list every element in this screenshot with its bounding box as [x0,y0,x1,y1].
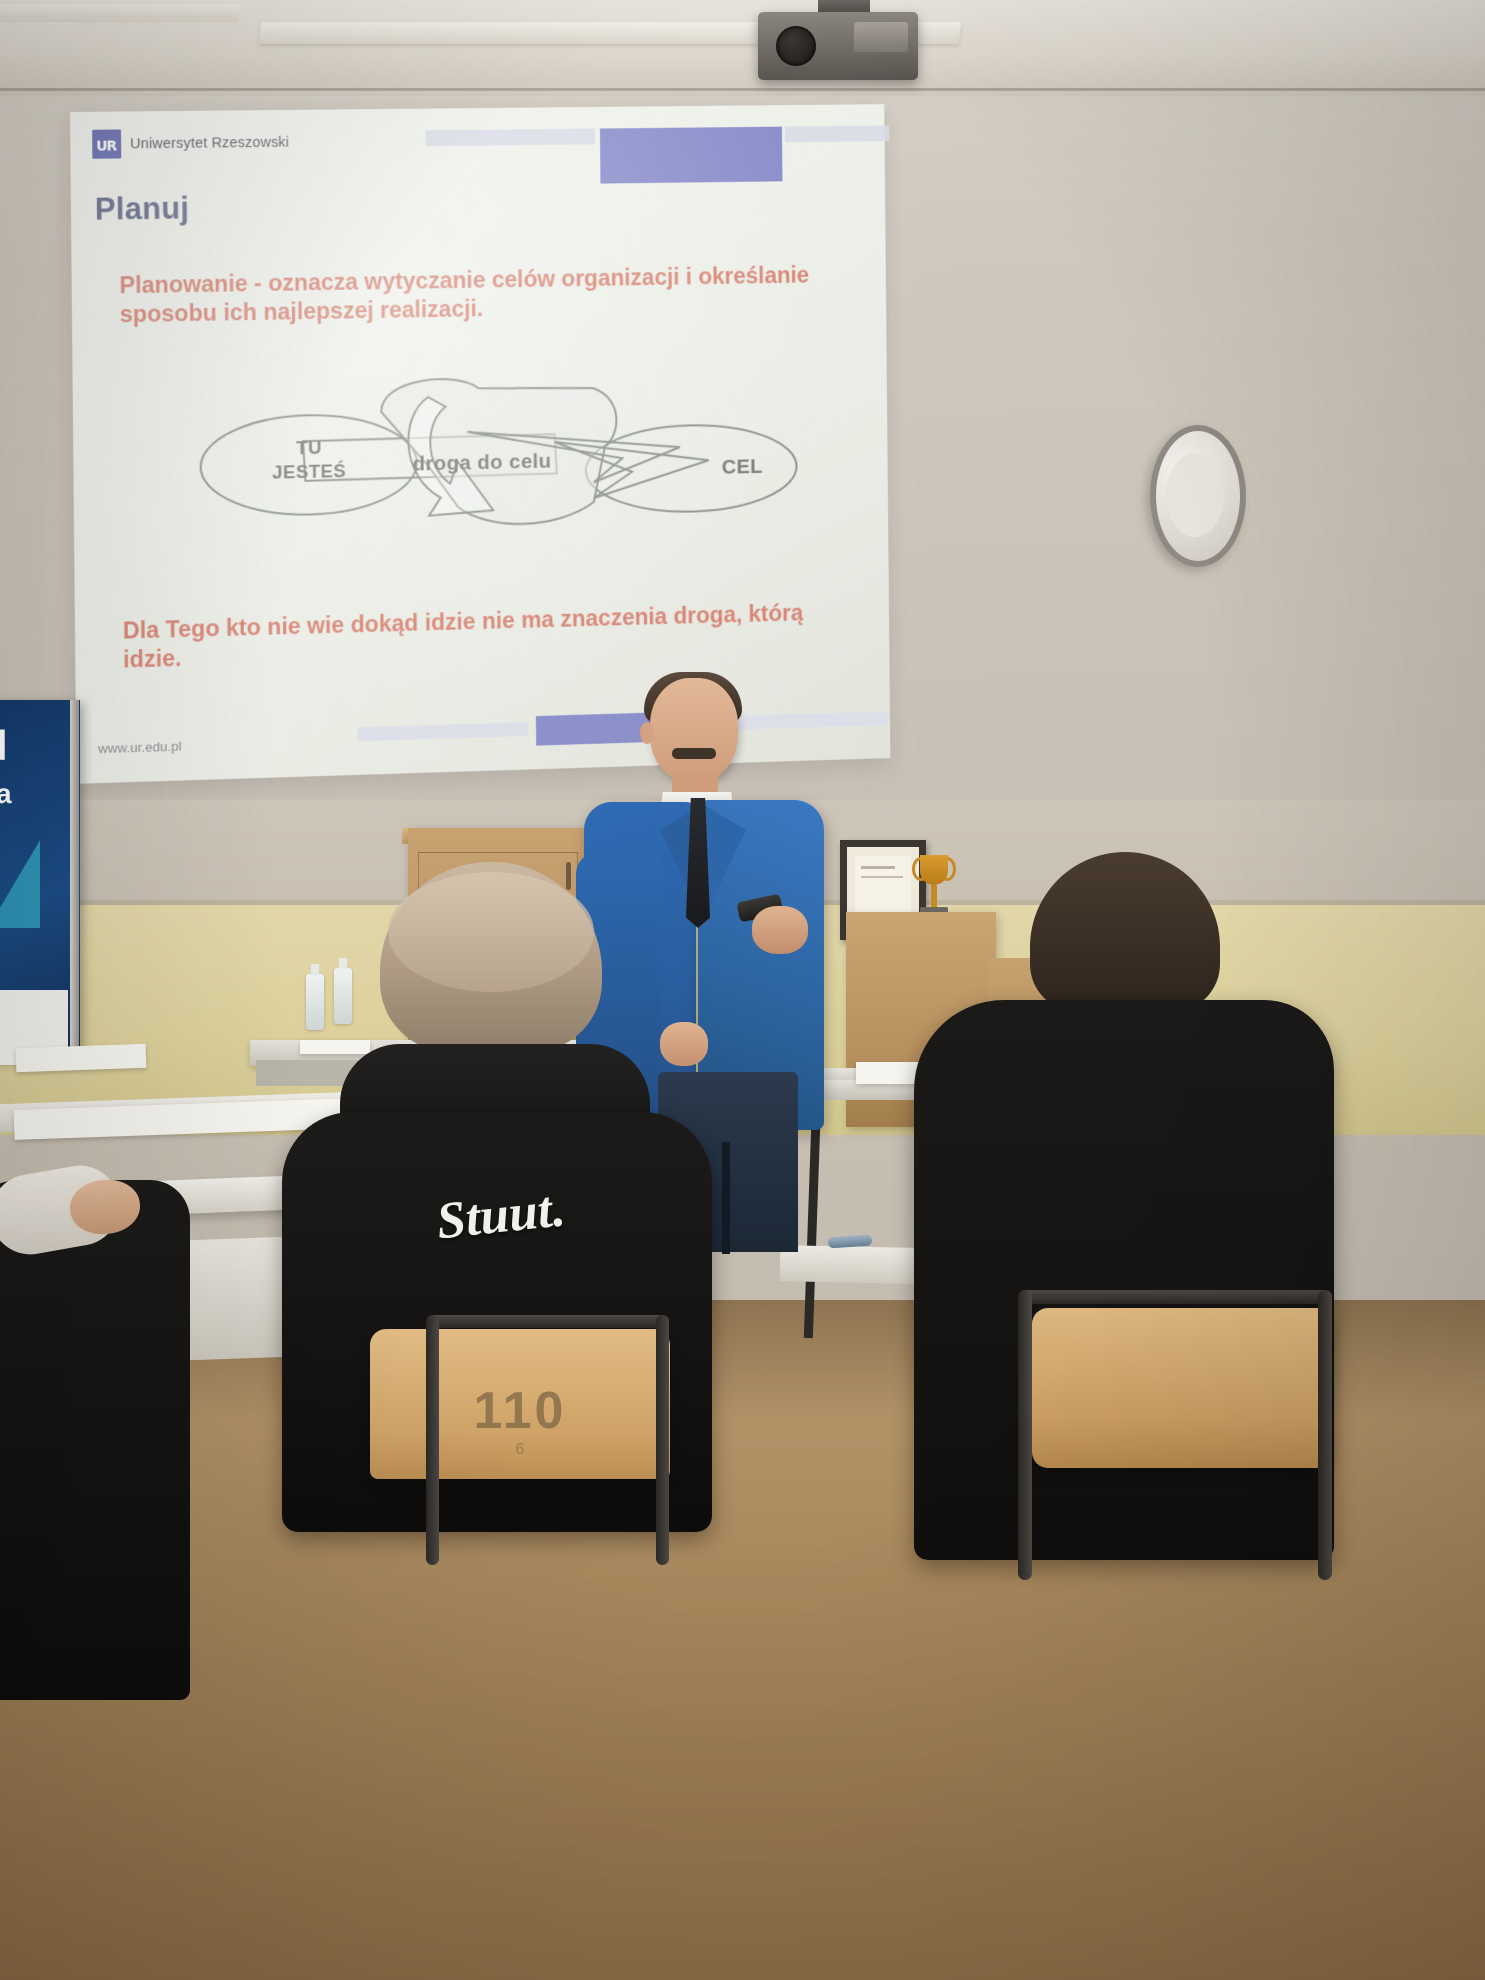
paper-stack-1 [16,1044,147,1073]
screenshot-root: UR Uniwersytet Rzeszowski Planuj Planowa… [0,0,1485,1980]
presenter-hand-right [752,906,808,954]
university-logo-icon: UR [92,129,121,158]
slide-brand: UR Uniwersytet Rzeszowski [92,128,289,159]
chair-center-frame-top [426,1315,669,1328]
chair-right-frame-left [1018,1290,1032,1580]
student-left-body [0,1180,190,1700]
student-left [0,1120,220,1680]
slide-footer-url: www.ur.edu.pl [98,739,182,757]
chair-center: 110 6 [360,1315,690,1565]
wall-clock [1150,425,1246,567]
ceiling-projector [758,12,918,80]
university-name: Uniwersytet Rzeszowski [130,134,289,152]
banner-pole [70,700,79,1060]
student-center-hair-highlight [388,872,594,992]
clock-face [1166,453,1224,537]
slide-title: Planuj [95,191,190,228]
diagram-path-label: droga do celu [370,449,594,477]
slide-header-block-right [785,126,889,143]
diagram-goal-label: CEL [685,454,800,480]
chair-center-frame-right [656,1315,669,1565]
ceiling-light-panel-2 [0,4,242,22]
roll-up-banner: l a [0,700,80,1060]
chair-center-backrest: 110 6 [370,1329,670,1479]
chair-number-label: 110 [370,1381,670,1441]
university-logo-mark-text: UR [96,139,116,155]
slide-diagram: TUJESTEŚ droga do celu CEL [132,360,833,572]
student-right-hair [1030,852,1220,1012]
chair-right-frame-top [1018,1290,1332,1304]
banner-text-line1: l [0,722,8,770]
slide-paragraph-top: Planowanie - oznacza wytyczanie celów or… [119,261,829,329]
diagram-start-label: TUJESTEŚ [250,436,368,487]
banner-text-line2: a [0,778,12,810]
presenter-moustache [672,748,716,759]
chair-center-frame-left [426,1315,439,1565]
presenter-head [650,678,738,782]
slide-header-block-accent [600,127,783,184]
ceiling-seam [0,88,1485,91]
chair-number-sub-label: 6 [370,1441,670,1459]
slide-header-block-left [425,129,595,147]
chair-right-backrest [1032,1308,1332,1468]
slide-paragraph-bottom: Dla Tego kto nie wie dokąd idzie nie ma … [123,598,823,674]
slide-footer-block-left [358,722,529,741]
chair-right [1018,1290,1348,1580]
presenter-leg-gap [722,1142,730,1254]
banner-graphic [0,840,40,928]
chair-right-frame-right [1318,1290,1332,1580]
presenter-ear [640,722,654,744]
